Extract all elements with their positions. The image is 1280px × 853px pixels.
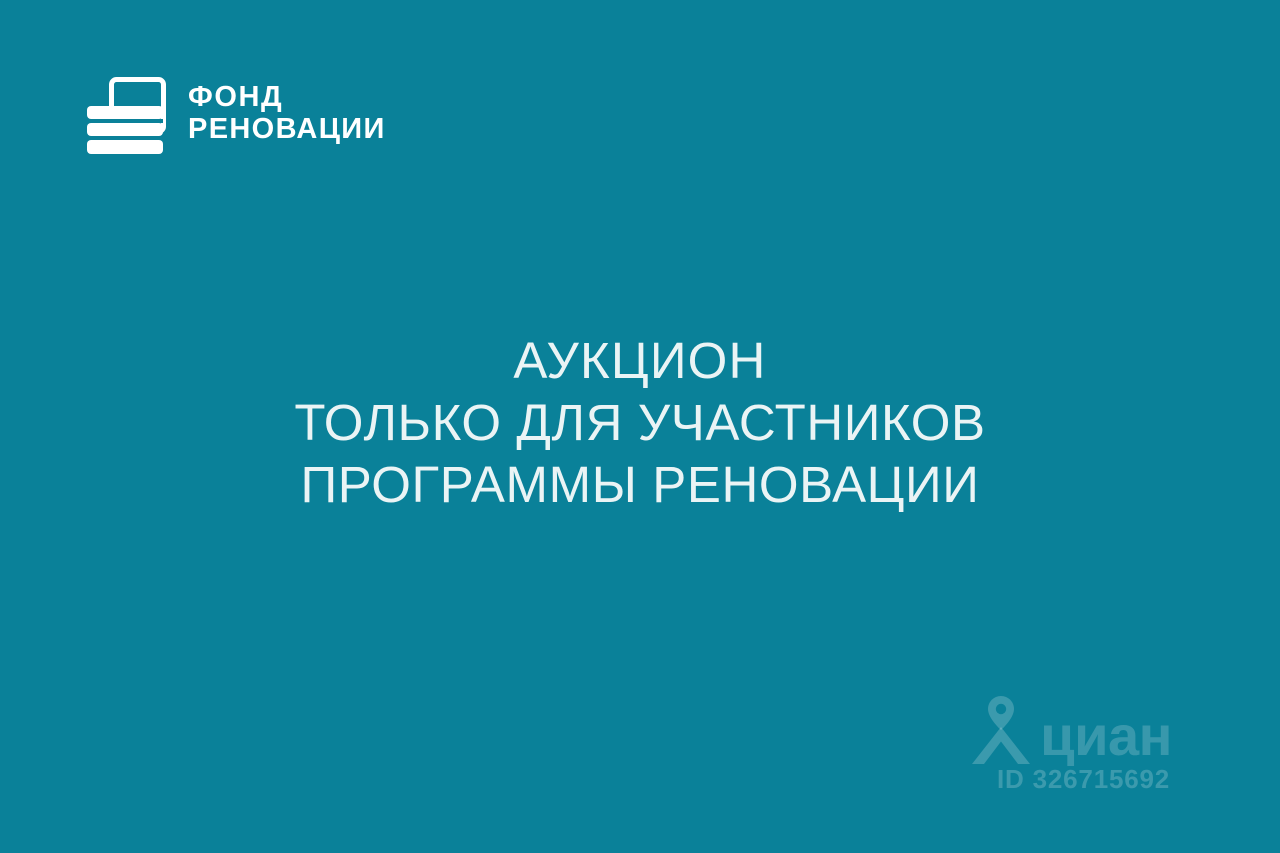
headline: АУКЦИОН ТОЛЬКО ДЛЯ УЧАСТНИКОВ ПРОГРАММЫ … [0,330,1280,516]
cian-listing-id: ID 326715692 [997,764,1172,795]
cian-watermark-logo: циан [968,694,1172,766]
headline-line-1: АУКЦИОН [40,330,1240,392]
fond-renovacii-logo: ФОНД РЕНОВАЦИИ [84,70,386,158]
brand-wordmark-line-1: ФОНД [188,82,386,114]
headline-line-3: ПРОГРАММЫ РЕНОВАЦИИ [40,454,1240,516]
cian-pin-house-icon [968,694,1034,766]
brand-wordmark: ФОНД РЕНОВАЦИИ [188,82,386,145]
cian-watermark: циан ID 326715692 [968,694,1172,795]
headline-line-2: ТОЛЬКО ДЛЯ УЧАСТНИКОВ [40,392,1240,454]
cian-wordmark: циан [1040,708,1172,764]
stacked-cards-square-icon [84,70,170,158]
auction-banner: ФОНД РЕНОВАЦИИ АУКЦИОН ТОЛЬКО ДЛЯ УЧАСТН… [0,0,1280,853]
brand-wordmark-line-2: РЕНОВАЦИИ [188,114,386,146]
